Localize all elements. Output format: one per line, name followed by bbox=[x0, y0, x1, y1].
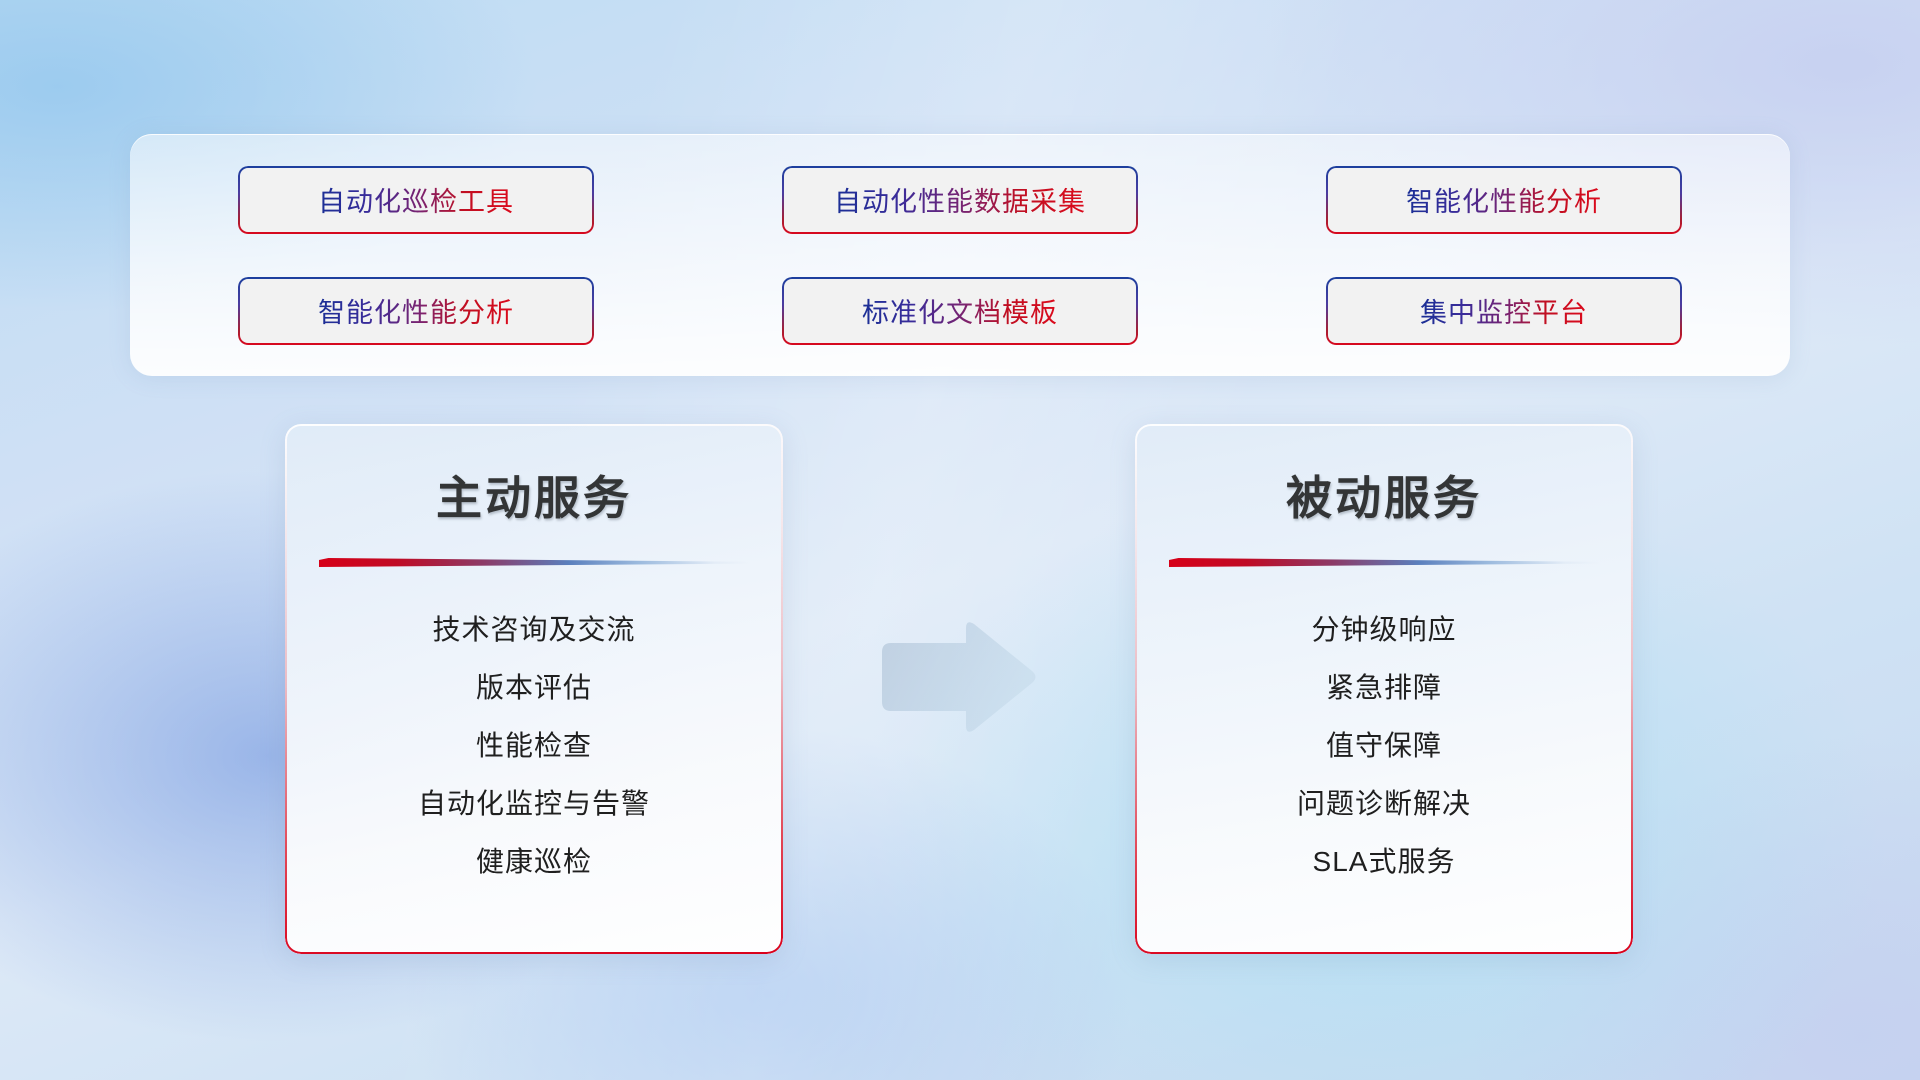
service-item: 健康巡检 bbox=[285, 833, 783, 891]
card-title: 主动服务 bbox=[285, 462, 783, 528]
capability-tag[interactable]: 标准化文档模板 bbox=[782, 277, 1138, 345]
capability-tag[interactable]: 智能化性能分析 bbox=[1326, 166, 1682, 234]
service-item-list: 分钟级响应 紧急排障 值守保障 问题诊断解决 SLA式服务 bbox=[1135, 601, 1633, 891]
service-item: 紧急排障 bbox=[1135, 659, 1633, 717]
card-divider bbox=[319, 558, 749, 567]
service-item: 自动化监控与告警 bbox=[285, 775, 783, 833]
capability-tag[interactable]: 集中监控平台 bbox=[1326, 277, 1682, 345]
card-title: 被动服务 bbox=[1135, 462, 1633, 528]
service-item: 性能检查 bbox=[285, 717, 783, 775]
capability-tag[interactable]: 自动化性能数据采集 bbox=[782, 166, 1138, 234]
service-item: 技术咨询及交流 bbox=[285, 601, 783, 659]
service-item: 值守保障 bbox=[1135, 717, 1633, 775]
service-card-reactive: 被动服务 分钟级响应 紧急排障 值守保障 问题诊断解决 SLA式服务 bbox=[1135, 424, 1633, 954]
capability-tag-label: 集中监控平台 bbox=[1420, 291, 1588, 330]
service-item: 版本评估 bbox=[285, 659, 783, 717]
capability-tag-panel: 自动化巡检工具 自动化性能数据采集 智能化性能分析 智能化性能分析 标准化文档模… bbox=[130, 134, 1790, 376]
capability-tag[interactable]: 自动化巡检工具 bbox=[238, 166, 594, 234]
arrow-right-icon bbox=[878, 618, 1038, 736]
capability-tag[interactable]: 智能化性能分析 bbox=[238, 277, 594, 345]
capability-tag-label: 智能化性能分析 bbox=[318, 291, 514, 330]
service-card-proactive: 主动服务 技术咨询及交流 版本评估 性能检查 自动化监控与告警 健康巡检 bbox=[285, 424, 783, 954]
service-item: 问题诊断解决 bbox=[1135, 775, 1633, 833]
service-item: SLA式服务 bbox=[1135, 833, 1633, 891]
service-item: 分钟级响应 bbox=[1135, 601, 1633, 659]
capability-tag-label: 自动化性能数据采集 bbox=[834, 180, 1086, 219]
capability-tag-label: 标准化文档模板 bbox=[862, 291, 1058, 330]
card-divider bbox=[1169, 558, 1599, 567]
service-item-list: 技术咨询及交流 版本评估 性能检查 自动化监控与告警 健康巡检 bbox=[285, 601, 783, 891]
capability-tag-label: 智能化性能分析 bbox=[1406, 180, 1602, 219]
capability-tag-label: 自动化巡检工具 bbox=[318, 180, 514, 219]
